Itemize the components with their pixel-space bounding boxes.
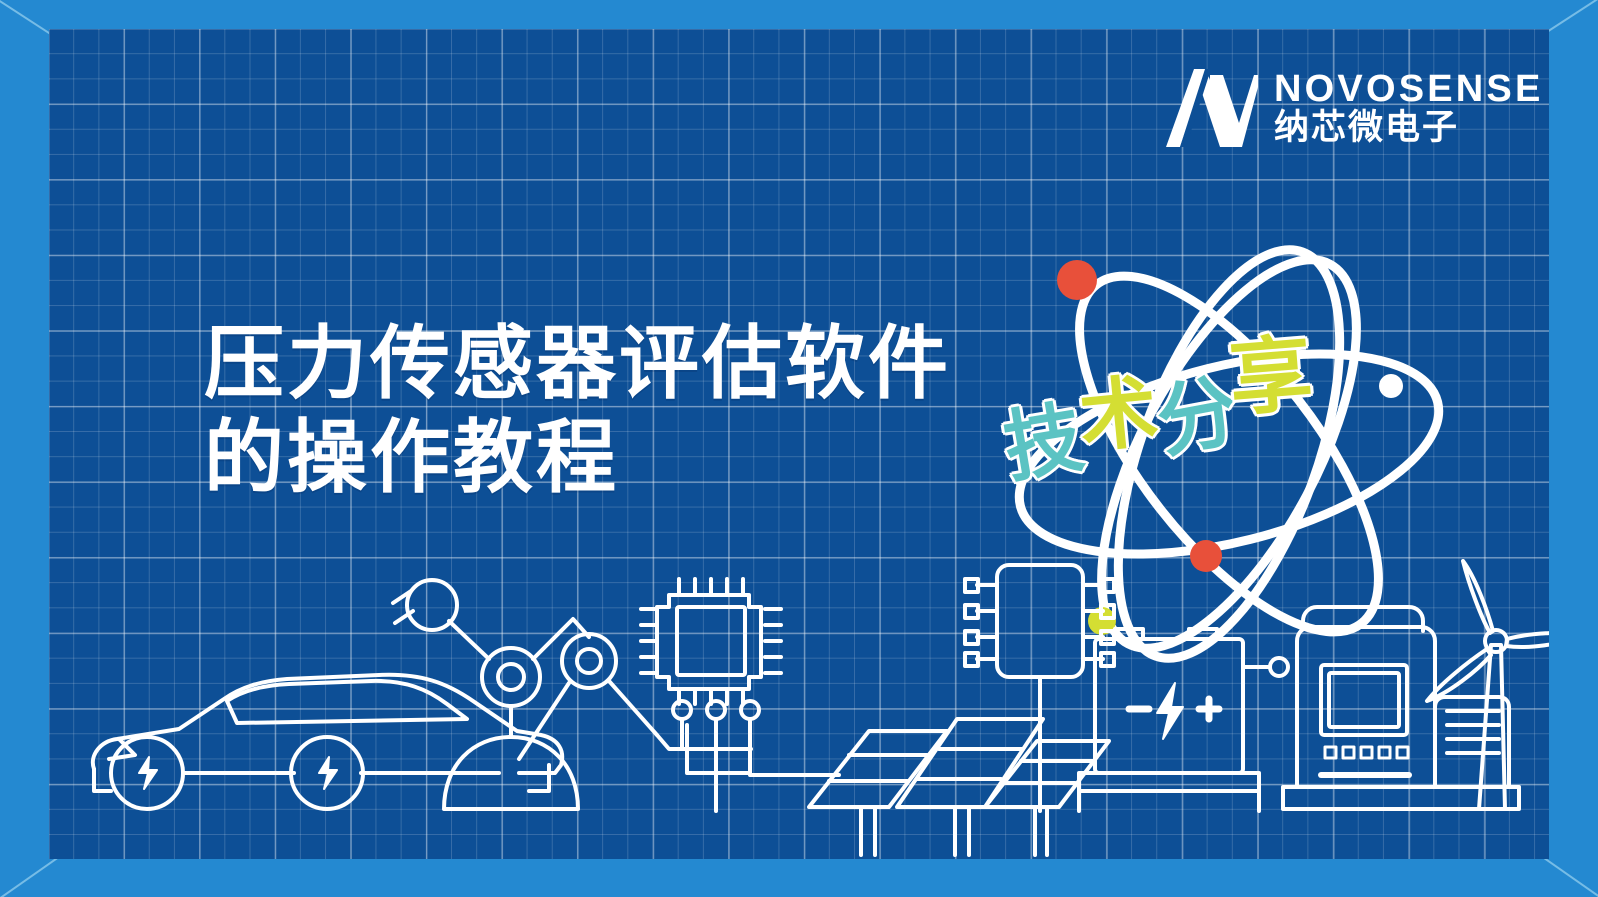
solar-panel-1 <box>809 731 947 855</box>
electron-red-top <box>1057 260 1097 300</box>
orbit-1 <box>999 317 1459 592</box>
car-bolt-front <box>139 757 157 789</box>
electron-white-right <box>1379 374 1403 398</box>
machine-screen <box>1321 665 1407 735</box>
turbine-blade-1 <box>1463 561 1493 633</box>
electric-car <box>93 675 562 809</box>
solar-panel-3 <box>985 741 1109 855</box>
brand-wordmark: NOVOSENSE 纳芯微电子 <box>1274 70 1544 147</box>
battery-plus <box>1199 699 1219 719</box>
novosense-n-mark <box>1164 67 1260 149</box>
title-line-2: 的操作教程 <box>204 411 951 505</box>
technology-illustration <box>49 559 1549 859</box>
battery-bolt <box>1157 683 1183 739</box>
machine-buttons <box>1325 747 1408 758</box>
solar-panel-2 <box>897 719 1043 855</box>
qfp-chip <box>641 579 781 704</box>
arm-joint-base <box>482 648 540 706</box>
brand-name-cn: 纳芯微电子 <box>1274 110 1544 147</box>
pcb-traces <box>657 701 839 811</box>
title-line-1: 压力传感器评估软件 <box>204 317 951 411</box>
turbine-blade-2 <box>1506 633 1549 647</box>
arm-joint-elbow <box>407 580 457 630</box>
via-1 <box>673 701 691 719</box>
machine-vents <box>1447 711 1499 753</box>
industrial-machine <box>1243 607 1519 809</box>
brand-name-en: NOVOSENSE <box>1274 70 1544 108</box>
machine-port <box>1270 658 1288 676</box>
wind-turbine <box>1427 561 1549 809</box>
brand-logo: NOVOSENSE 纳芯微电子 <box>1164 67 1544 149</box>
car-bolt-rear <box>319 757 337 789</box>
slide-cover: NOVOSENSE 纳芯微电子 压力传感器评估软件 的操作教程 <box>0 0 1598 897</box>
ic-pins <box>965 579 1114 666</box>
page-title: 压力传感器评估软件 的操作教程 <box>204 317 951 506</box>
battery <box>1079 629 1259 811</box>
electron-teal-right <box>1252 341 1292 381</box>
blueprint-panel: NOVOSENSE 纳芯微电子 压力传感器评估软件 的操作教程 <box>49 29 1549 859</box>
solar-panels <box>809 719 1109 855</box>
